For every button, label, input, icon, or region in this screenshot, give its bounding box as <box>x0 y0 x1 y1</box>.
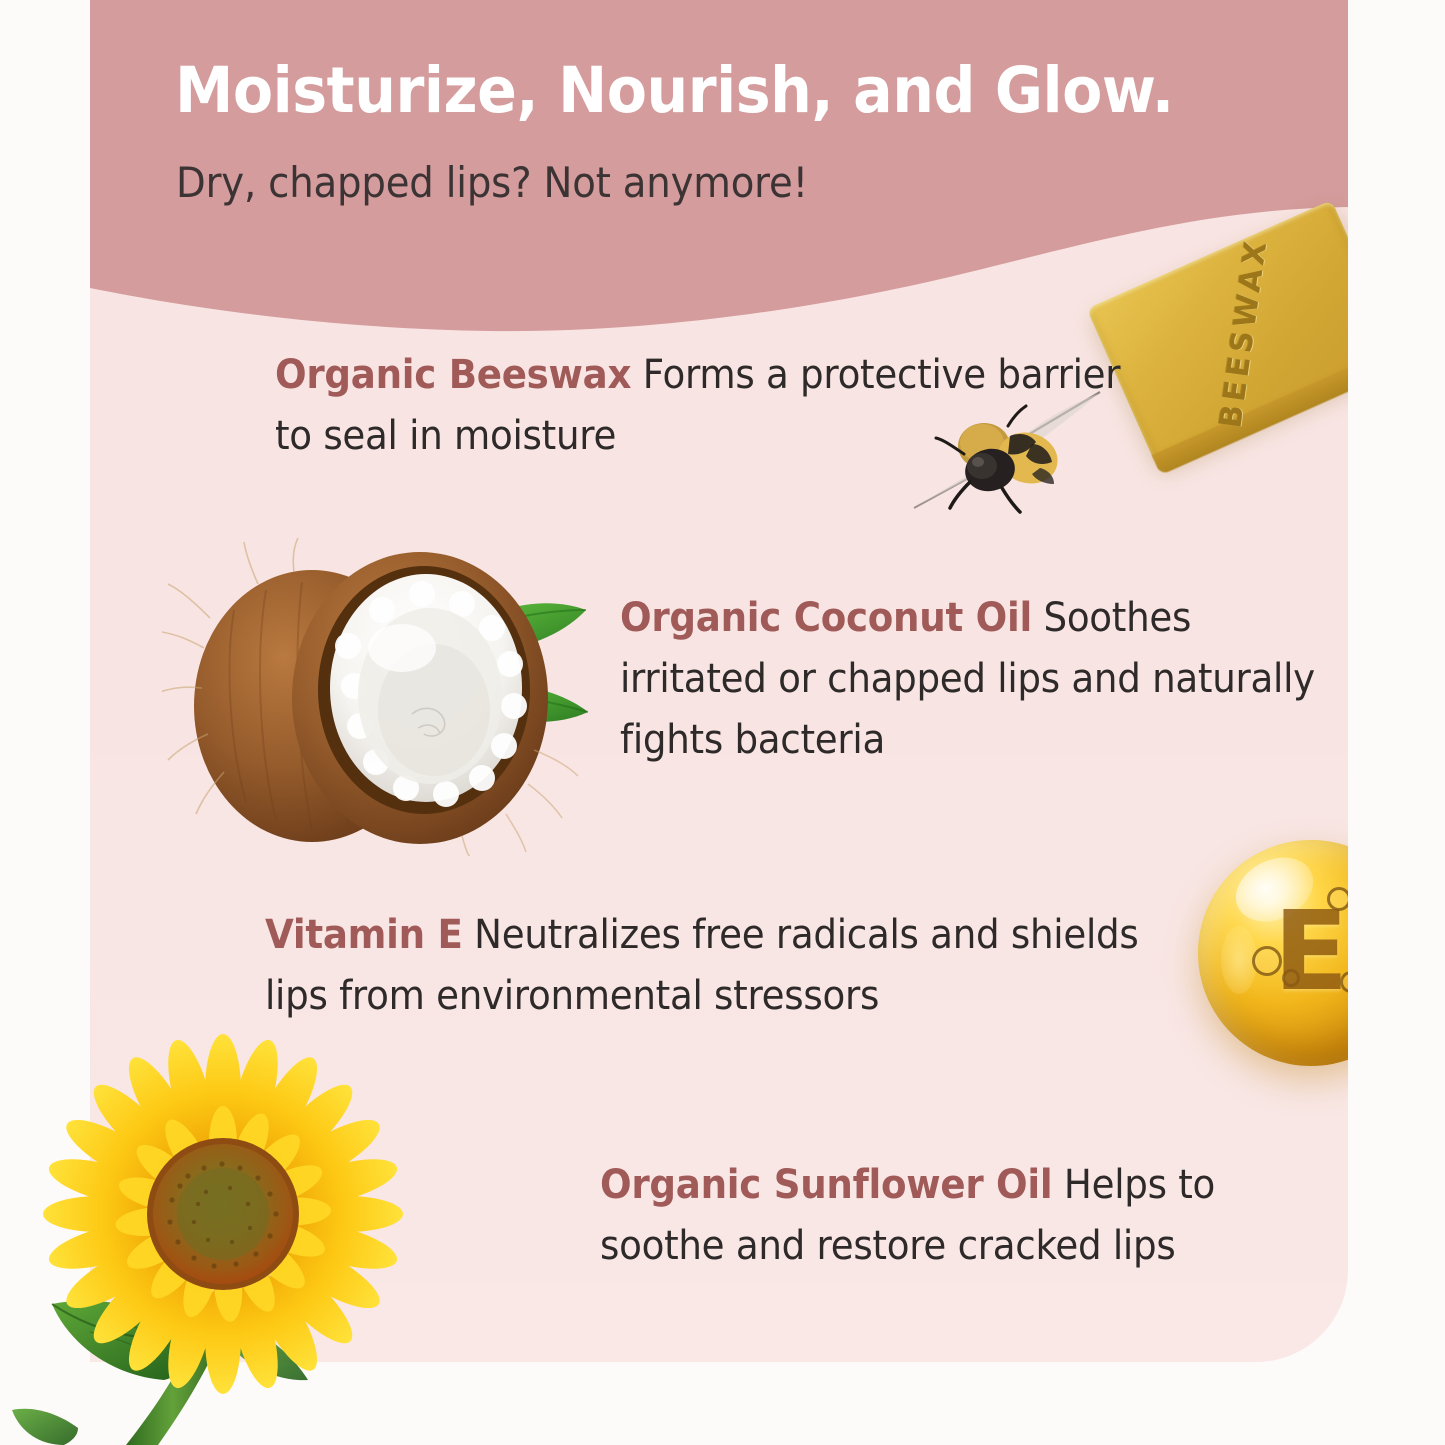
vitamin-e-capsule-icon: E <box>1198 840 1348 1066</box>
ingredient-sunflower-text: Organic Sunflower Oil Helps to soothe an… <box>600 1155 1344 1277</box>
page-subtitle: Dry, chapped lips? Not anymore! <box>176 160 808 206</box>
ingredient-coconut-text: Organic Coconut Oil Soothes irritated or… <box>620 588 1327 770</box>
ingredient-vitamin-e-text: Vitamin E Neutralizes free radicals and … <box>265 905 1195 1027</box>
ingredient-sunflower-name: Organic Sunflower Oil <box>600 1162 1052 1208</box>
vitamin-e-letter: E <box>1198 896 1348 1006</box>
ingredient-beeswax-text: Organic Beeswax Forms a protective barri… <box>275 345 1159 467</box>
ingredient-beeswax-name: Organic Beeswax <box>275 352 631 398</box>
page-title: Moisturize, Nourish, and Glow. <box>175 58 1217 124</box>
ingredient-vitamin-e-name: Vitamin E <box>265 912 463 958</box>
halved-coconut-icon <box>162 538 594 856</box>
ingredient-coconut-name: Organic Coconut Oil <box>620 595 1032 641</box>
sunflower-icon <box>18 1046 428 1445</box>
infographic-canvas: Moisturize, Nourish, and Glow. Dry, chap… <box>0 0 1445 1445</box>
